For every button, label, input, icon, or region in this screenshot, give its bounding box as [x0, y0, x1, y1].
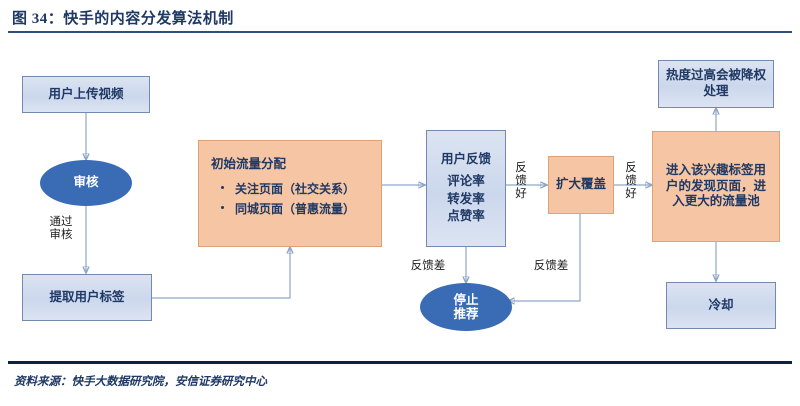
node-cooldown-label: 冷却 [708, 298, 733, 314]
footer-divider [8, 361, 792, 364]
edge-label-bad-2: 反馈差 [527, 260, 575, 273]
edge-tag-initial [152, 247, 290, 298]
node-user-feedback[interactable]: 用户反馈 评论率 转发率 点赞率 [426, 130, 506, 247]
node-cooldown[interactable]: 冷却 [666, 282, 776, 329]
node-extract-tag-label: 提取用户标签 [49, 290, 124, 306]
edge-label-pass-review: 通过 审核 [44, 216, 78, 242]
node-demote-label: 热度过高会被降权处理 [665, 68, 767, 99]
node-stop-recommend[interactable]: 停止 推荐 [420, 283, 512, 331]
node-expand-coverage-label: 扩大覆盖 [556, 177, 606, 193]
node-stop-recommend-line2: 推荐 [453, 307, 478, 321]
node-demote[interactable]: 热度过高会被降权处理 [658, 60, 774, 108]
edge-label-good-2: 反馈 好 [623, 162, 639, 202]
node-review-label: 审核 [73, 175, 98, 191]
list-item: 同城页面（普惠流量） [219, 200, 371, 217]
node-review[interactable]: 审核 [40, 160, 132, 206]
node-stop-recommend-line1: 停止 [453, 293, 478, 307]
node-initial-traffic-list: 关注页面（社交关系） 同城页面（普惠流量） [211, 180, 371, 217]
node-user-feedback-metric-like: 点赞率 [447, 209, 485, 225]
edge-label-bad-1: 反馈差 [404, 260, 452, 273]
figure-canvas: 图 34：快手的内容分发算法机制 用户上传视频 审核 [0, 0, 800, 406]
node-upload-video-label: 用户上传视频 [48, 87, 123, 103]
list-item: 关注页面（社交关系） [219, 180, 371, 197]
node-traffic-pool-label: 进入该兴趣标签用户的发现页面，进入更大的流量池 [660, 163, 772, 210]
edge-label-good-1: 反馈 好 [513, 162, 529, 202]
node-initial-traffic[interactable]: 初始流量分配 关注页面（社交关系） 同城页面（普惠流量） [198, 140, 382, 247]
node-extract-tag[interactable]: 提取用户标签 [22, 274, 152, 321]
node-initial-traffic-title: 初始流量分配 [211, 153, 371, 172]
edge-expand-stop [508, 214, 580, 301]
node-traffic-pool[interactable]: 进入该兴趣标签用户的发现页面，进入更大的流量池 [652, 131, 780, 242]
node-user-feedback-metric-share: 转发率 [447, 192, 485, 208]
node-user-feedback-metric-comment: 评论率 [447, 174, 485, 190]
node-upload-video[interactable]: 用户上传视频 [22, 76, 150, 113]
node-user-feedback-title: 用户反馈 [441, 152, 491, 168]
source-note: 资料来源：快手大数据研究院，安信证券研究中心 [14, 373, 267, 389]
node-expand-coverage[interactable]: 扩大覆盖 [548, 156, 614, 214]
